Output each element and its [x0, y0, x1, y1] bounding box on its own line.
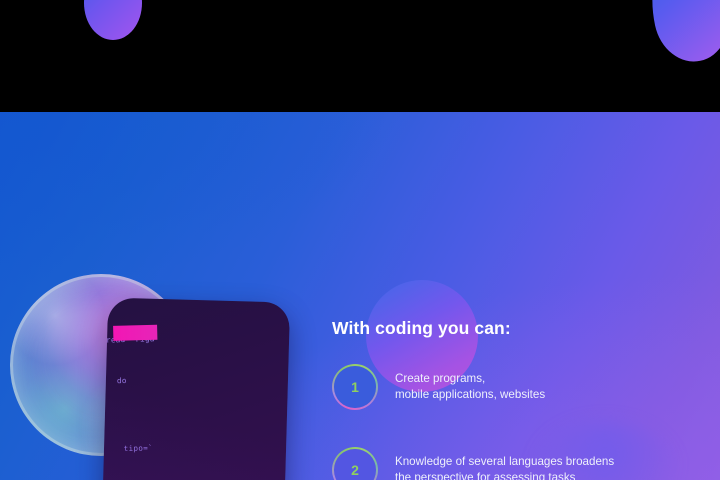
number-badge-label: 1 [334, 366, 375, 407]
code-line: cognome=` $riga | cut [100, 476, 290, 480]
code-panel-mockup: read riga do tipo=` cognome=` $riga | cu… [100, 298, 290, 480]
decorative-blob-left [84, 0, 142, 40]
decorative-blob-right [641, 0, 720, 68]
code-line: do [100, 368, 290, 389]
list-item-text: Knowledge of several languages broadens … [395, 454, 614, 480]
code-line: tipo=` [100, 436, 290, 457]
list-item: 2 Knowledge of several languages broaden… [332, 447, 614, 480]
pink-highlight-bar [113, 325, 157, 341]
list-item-text: Create programs, mobile applications, we… [395, 371, 545, 404]
page-title: With coding you can: [332, 318, 511, 339]
list-item: 1 Create programs, mobile applications, … [332, 364, 545, 410]
number-badge: 2 [332, 447, 378, 480]
slide-stage: read riga do tipo=` cognome=` $riga | cu… [0, 112, 720, 480]
top-banner [0, 0, 720, 112]
number-badge: 1 [332, 364, 378, 410]
number-badge-label: 2 [334, 449, 375, 480]
slide-root: read riga do tipo=` cognome=` $riga | cu… [0, 0, 720, 480]
code-line [100, 408, 290, 415]
